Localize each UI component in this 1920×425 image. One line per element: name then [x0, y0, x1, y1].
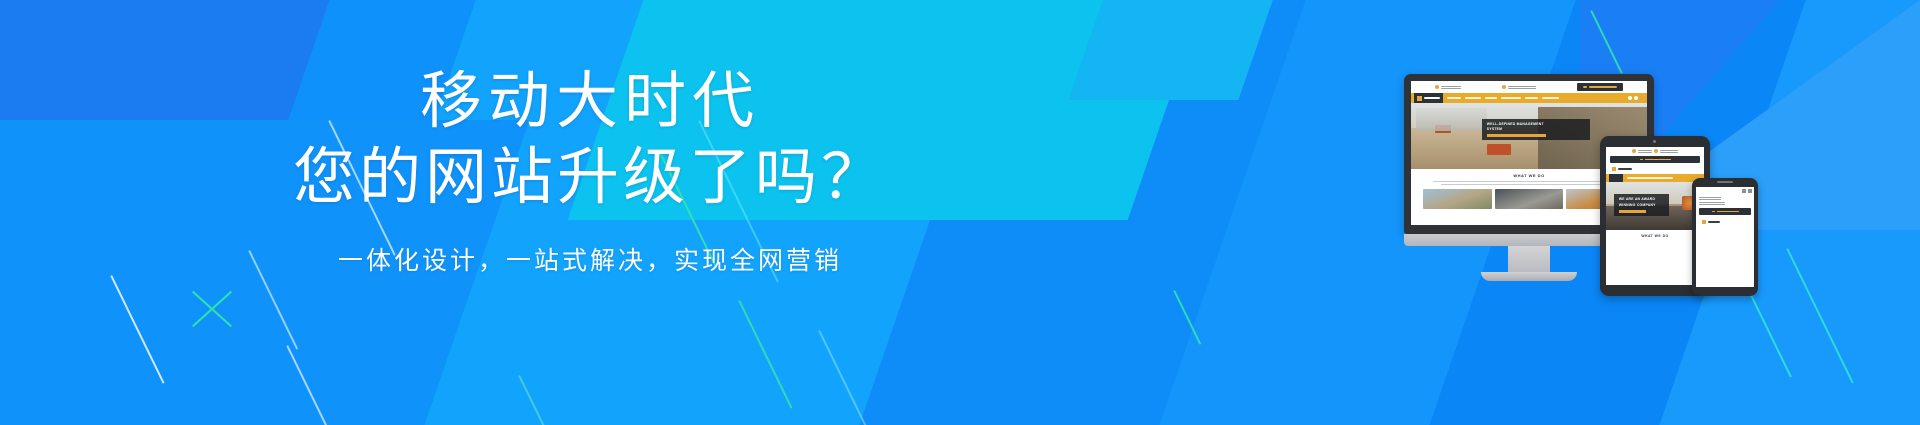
hero-caption-underline — [1487, 134, 1546, 137]
topbar-contact-1 — [1435, 85, 1461, 89]
desktop-stand-neck — [1508, 246, 1550, 272]
tablet-logo-row — [1606, 164, 1704, 174]
tablet-topbar — [1606, 147, 1704, 155]
topbar-cta-button[interactable] — [1577, 83, 1623, 91]
desktop-stand-base — [1481, 272, 1577, 281]
cart-icon[interactable] — [1634, 96, 1638, 100]
tablet-contact-2 — [1654, 149, 1678, 153]
battery-icon — [1748, 189, 1752, 193]
tablet-contact-1 — [1632, 149, 1652, 153]
site-topbar — [1411, 81, 1647, 93]
clock-icon — [1502, 85, 1506, 89]
menu-icon[interactable] — [1609, 174, 1623, 182]
phone-cta-wrap — [1696, 207, 1754, 216]
phone-contact-2 — [1699, 202, 1751, 205]
tablet-what-we-do: WHAT WE DO — [1606, 230, 1704, 242]
hero-copy: 移动大时代 您的网站升级了吗？ 一体化设计，一站式解决，实现全网营销 — [0, 64, 1180, 277]
hero-caption-line-2: SYSTEM — [1487, 127, 1586, 132]
site-logo — [1414, 93, 1443, 103]
hero-bulldozer — [1487, 144, 1511, 155]
phone-icon — [1435, 85, 1439, 89]
phone-cta-button[interactable] — [1699, 208, 1751, 215]
speaker-icon — [1717, 181, 1733, 183]
phone-statusbar — [1696, 187, 1754, 195]
phone-icon — [1632, 149, 1636, 153]
topbar-contact-2 — [1502, 85, 1536, 89]
phone-bezel: WE STAND FOR — [1692, 178, 1758, 296]
phone-screen: WE STAND FOR — [1696, 187, 1754, 287]
device-mockup-group: WELL-DEFINED MANAGEMENT SYSTEM WHAT WE D… — [1404, 74, 1824, 364]
tablet-hero-image: WE ARE AN AWARD WINNING COMPANY — [1606, 182, 1704, 230]
tablet-cta-wrap — [1606, 155, 1704, 164]
camera-icon — [1653, 140, 1656, 143]
search-icon[interactable] — [1628, 96, 1632, 100]
phone-device: WE STAND FOR — [1692, 178, 1758, 296]
logo-mark — [1612, 167, 1616, 171]
site-navbar — [1411, 93, 1647, 103]
site-logo — [1609, 165, 1643, 173]
site-logo — [1699, 218, 1729, 225]
tablet-screen: WE ARE AN AWARD WINNING COMPANY WHAT WE … — [1606, 147, 1704, 285]
hero-banner: 移动大时代 您的网站升级了吗？ 一体化设计，一站式解决，实现全网营销 — [0, 0, 1920, 425]
hero-caption-line-2: WINNING COMPANY — [1619, 203, 1664, 208]
tablet-cta-button[interactable] — [1610, 156, 1700, 163]
hero-subtitle: 一体化设计，一站式解决，实现全网营销 — [0, 241, 1180, 277]
what-we-do-text — [1433, 181, 1625, 185]
hero-caption-underline — [1619, 210, 1646, 213]
thumbnail-2[interactable] — [1495, 189, 1563, 209]
headline-line-2: 您的网站升级了吗？ — [0, 140, 1180, 216]
tablet-navbar — [1606, 174, 1704, 182]
what-we-do-heading: WHAT WE DO — [1609, 234, 1701, 238]
logo-mark — [1417, 96, 1422, 101]
hero-bridge — [1416, 108, 1487, 130]
clock-icon — [1654, 149, 1658, 153]
phone-contact-1 — [1699, 197, 1751, 200]
tablet-hero-caption: WE ARE AN AWARD WINNING COMPANY — [1614, 194, 1669, 216]
phone-logo-row — [1696, 216, 1754, 227]
hero-caption: WELL-DEFINED MANAGEMENT SYSTEM — [1482, 119, 1591, 141]
decor-x-mark — [186, 282, 238, 334]
phone-contact-block — [1696, 195, 1754, 207]
headline-line-1: 移动大时代 — [0, 64, 1180, 140]
thumbnail-1[interactable] — [1423, 189, 1491, 209]
user-icon[interactable] — [1640, 96, 1644, 100]
logo-mark — [1702, 220, 1706, 224]
signal-icon — [1742, 189, 1746, 193]
